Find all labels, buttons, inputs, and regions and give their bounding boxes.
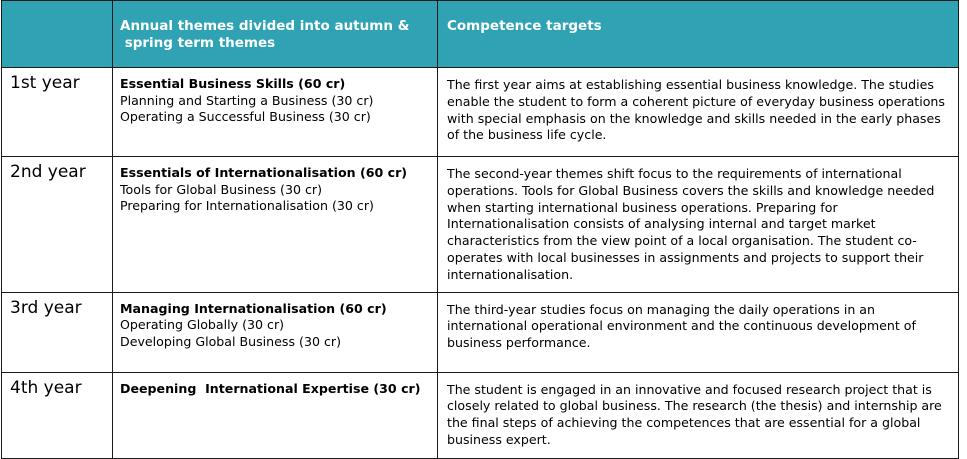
competence-cell-2nd: The second-year themes shift focus to th… (438, 157, 959, 293)
theme-subitem: Developing Global Business (30 cr) (120, 334, 431, 351)
year-label-1st: 1st year (2, 68, 113, 157)
theme-subitem: Operating a Successful Business (30 cr) (120, 109, 431, 126)
table-header: Annual themes divided into autumn & spri… (2, 1, 959, 68)
competence-cell-1st: The first year aims at establishing esse… (438, 68, 959, 157)
theme-subitem: Tools for Global Business (30 cr) (120, 182, 431, 199)
header-themes-line2: spring term themes (120, 35, 437, 52)
theme-subitem: Planning and Starting a Business (30 cr) (120, 93, 431, 110)
year-label-3rd: 3rd year (2, 292, 113, 372)
header-themes-line1: Annual themes divided into autumn & (120, 18, 437, 35)
themes-cell-2nd: Essentials of Internationalisation (60 c… (113, 157, 438, 293)
year-label-4th: 4th year (2, 372, 113, 458)
table-row: 2nd year Essentials of Internationalisat… (2, 157, 959, 293)
column-header-competence-targets: Competence targets (438, 1, 959, 68)
theme-subitem: Operating Globally (30 cr) (120, 317, 431, 334)
column-header-annual-themes: Annual themes divided into autumn & spri… (113, 1, 438, 68)
header-row: Annual themes divided into autumn & spri… (2, 1, 959, 68)
competence-cell-4th: The student is engaged in an innovative … (438, 372, 959, 458)
year-label-2nd: 2nd year (2, 157, 113, 293)
table-row: 1st year Essential Business Skills (60 c… (2, 68, 959, 157)
curriculum-table: Annual themes divided into autumn & spri… (1, 0, 959, 459)
themes-cell-3rd: Managing Internationalisation (60 cr) Op… (113, 292, 438, 372)
column-header-year (2, 1, 113, 68)
themes-cell-1st: Essential Business Skills (60 cr) Planni… (113, 68, 438, 157)
header-competence-label: Competence targets (447, 18, 958, 35)
theme-title: Deepening International Expertise (30 cr… (120, 381, 431, 398)
theme-subitem: Preparing for Internationalisation (30 c… (120, 198, 431, 215)
theme-title: Managing Internationalisation (60 cr) (120, 301, 431, 318)
table-row: 4th year Deepening International Experti… (2, 372, 959, 458)
table-row: 3rd year Managing Internationalisation (… (2, 292, 959, 372)
competence-cell-3rd: The third-year studies focus on managing… (438, 292, 959, 372)
themes-cell-4th: Deepening International Expertise (30 cr… (113, 372, 438, 458)
theme-title: Essentials of Internationalisation (60 c… (120, 165, 431, 182)
table-body: 1st year Essential Business Skills (60 c… (2, 68, 959, 459)
theme-title: Essential Business Skills (60 cr) (120, 76, 431, 93)
